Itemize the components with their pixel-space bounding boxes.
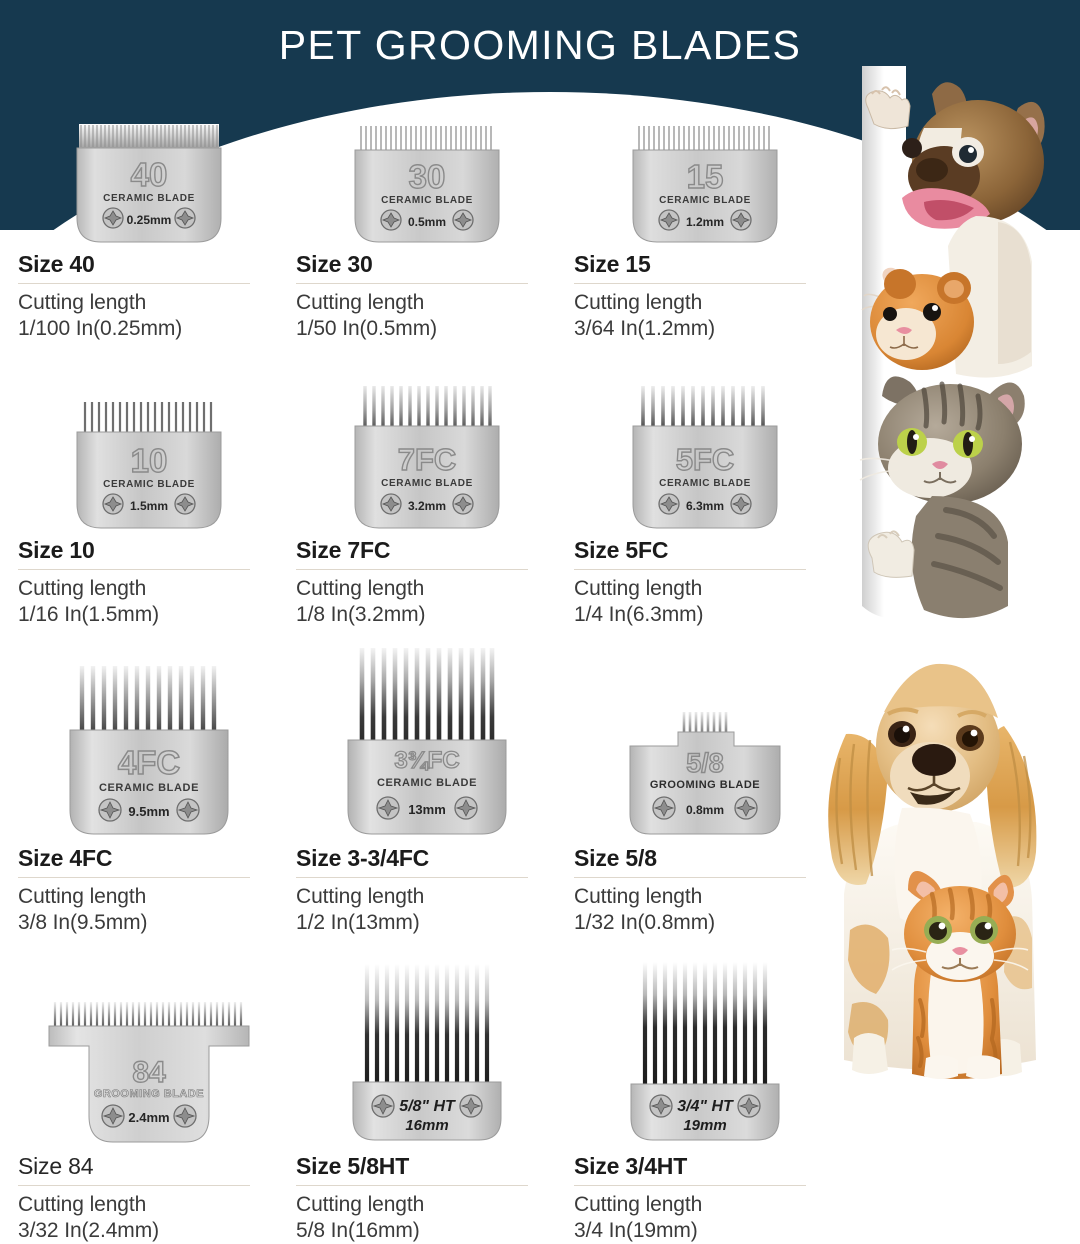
blade-card-84[interactable]: 84 GROOMING BLADE 2.4mm Size 84 Cutting … [2,936,280,1244]
svg-text:5/8" HT: 5/8" HT [399,1098,456,1115]
cutting-length-value: 3/4 In(19mm) [574,1218,836,1244]
blade-image-4fc: 4FC CERAMIC BLADE 9.5mm [18,628,280,840]
blade-image-7fc: 7FC CERAMIC BLADE 3.2mm [296,342,558,532]
blade-size-label: Size 5/8HT [296,1154,558,1179]
cutting-length-value: 1/50 In(0.5mm) [296,316,558,342]
cutting-length-label: Cutting length [296,884,558,910]
blade-card-15[interactable]: 15 CERAMIC BLADE 1.2mm Size 15 Cutting l… [558,118,836,342]
svg-text:CERAMIC BLADE: CERAMIC BLADE [103,193,195,204]
cutting-length-value: 3/32 In(2.4mm) [18,1218,280,1244]
cutting-length-label: Cutting length [574,576,836,602]
page-title: PET GROOMING BLADES [0,22,1080,69]
blade-size-label: Size 10 [18,538,280,563]
svg-text:CERAMIC BLADE: CERAMIC BLADE [103,479,195,490]
svg-text:13mm: 13mm [408,802,446,817]
svg-text:CERAMIC BLADE: CERAMIC BLADE [659,195,751,206]
divider [574,283,806,284]
blade-card-40[interactable]: 40 CERAMIC BLADE 0.25mm Size 40 Cutting … [2,118,280,342]
divider [574,1185,806,1186]
blade-card-30[interactable]: 30 CERAMIC BLADE 0.5mm Size 30 Cutting l… [280,118,558,342]
cutting-length-value: 1/2 In(13mm) [296,910,558,936]
svg-text:3/4" HT: 3/4" HT [677,1098,734,1115]
blade-row: 84 GROOMING BLADE 2.4mm Size 84 Cutting … [0,936,860,1244]
blade-size-label: Size 5FC [574,538,836,563]
svg-text:16mm: 16mm [405,1117,448,1134]
blade-card-7fc[interactable]: 7FC CERAMIC BLADE 3.2mm Size 7FC Cutting… [280,342,558,628]
cutting-length-label: Cutting length [296,576,558,602]
blade-info: Size 10 Cutting length 1/16 In(1.5mm) [18,532,280,628]
cutting-length-value: 1/100 In(0.25mm) [18,316,280,342]
svg-text:7FC: 7FC [398,442,457,477]
cutting-length-label: Cutting length [18,1192,280,1218]
svg-text:40: 40 [131,156,168,193]
blade-info: Size 4FC Cutting length 3/8 In(9.5mm) [18,840,280,936]
blade-row: 4FC CERAMIC BLADE 9.5mm Size 4FC Cutting… [0,628,860,936]
blade-row: 10 CERAMIC BLADE 1.5mm Size 10 Cutting l… [0,342,860,628]
blade-card-5fc[interactable]: 5FC CERAMIC BLADE 6.3mm Size 5FC Cutting… [558,342,836,628]
blade-image-10: 10 CERAMIC BLADE 1.5mm [18,342,280,532]
svg-text:CERAMIC BLADE: CERAMIC BLADE [381,195,473,206]
divider [18,1185,250,1186]
cutting-length-value: 3/8 In(9.5mm) [18,910,280,936]
blade-image-40: 40 CERAMIC BLADE 0.25mm [18,118,280,246]
blade-size-label: Size 4FC [18,846,280,871]
blade-size-label: Size 84 [18,1154,280,1179]
blade-card-4fc[interactable]: 4FC CERAMIC BLADE 9.5mm Size 4FC Cutting… [2,628,280,936]
divider [296,877,528,878]
svg-text:19mm: 19mm [683,1117,726,1134]
svg-text:0.5mm: 0.5mm [408,215,446,229]
divider [296,1185,528,1186]
svg-text:CERAMIC BLADE: CERAMIC BLADE [381,478,473,489]
blade-grid: 40 CERAMIC BLADE 0.25mm Size 40 Cutting … [0,118,860,1244]
blade-info: Size 84 Cutting length 3/32 In(2.4mm) [18,1148,280,1244]
blade-size-label: Size 3-3/4FC [296,846,558,871]
blade-size-label: Size 3/4HT [574,1154,836,1179]
svg-text:0.8mm: 0.8mm [686,803,724,817]
svg-text:10: 10 [131,442,168,479]
svg-text:30: 30 [409,158,446,195]
divider [574,877,806,878]
blade-size-label: Size 15 [574,252,836,277]
cutting-length-value: 3/64 In(1.2mm) [574,316,836,342]
svg-text:GROOMING BLADE: GROOMING BLADE [650,779,760,791]
blade-image-5fc: 5FC CERAMIC BLADE 6.3mm [574,342,836,532]
svg-text:CERAMIC BLADE: CERAMIC BLADE [99,782,199,794]
cutting-length-label: Cutting length [18,576,280,602]
cutting-length-value: 1/8 In(3.2mm) [296,602,558,628]
blade-info: Size 3-3/4FC Cutting length 1/2 In(13mm) [296,840,558,936]
svg-text:5FC: 5FC [676,442,735,477]
blade-image-15: 15 CERAMIC BLADE 1.2mm [574,118,836,246]
blade-size-label: Size 30 [296,252,558,277]
blade-info: Size 15 Cutting length 3/64 In(1.2mm) [574,246,836,342]
svg-text:1.2mm: 1.2mm [686,215,724,229]
svg-text:GROOMING BLADE: GROOMING BLADE [94,1088,204,1100]
svg-text:3¾FC: 3¾FC [394,747,459,774]
blade-info: Size 3/4HT Cutting length 3/4 In(19mm) [574,1148,836,1244]
blade-size-label: Size 40 [18,252,280,277]
cutting-length-label: Cutting length [296,290,558,316]
blade-card-10[interactable]: 10 CERAMIC BLADE 1.5mm Size 10 Cutting l… [2,342,280,628]
divider [296,283,528,284]
pet-photo-bottom-group [792,608,1080,1080]
divider [574,569,806,570]
svg-text:15: 15 [687,158,724,195]
blade-info: Size 7FC Cutting length 1/8 In(3.2mm) [296,532,558,628]
svg-text:CERAMIC BLADE: CERAMIC BLADE [377,777,477,789]
cutting-length-label: Cutting length [18,290,280,316]
blade-size-label: Size 7FC [296,538,558,563]
blade-info: Size 5/8HT Cutting length 5/8 In(16mm) [296,1148,558,1244]
svg-text:0.25mm: 0.25mm [127,213,172,227]
svg-text:CERAMIC BLADE: CERAMIC BLADE [659,478,751,489]
cutting-length-value: 1/16 In(1.5mm) [18,602,280,628]
cutting-length-label: Cutting length [18,884,280,910]
cutting-length-label: Cutting length [296,1192,558,1218]
divider [18,283,250,284]
divider [18,877,250,878]
svg-text:9.5mm: 9.5mm [128,804,169,819]
svg-text:84: 84 [132,1056,166,1089]
blade-image-30: 30 CERAMIC BLADE 0.5mm [296,118,558,246]
cutting-length-label: Cutting length [574,1192,836,1218]
cutting-length-label: Cutting length [574,290,836,316]
blade-info: Size 40 Cutting length 1/100 In(0.25mm) [18,246,280,342]
blade-image-334fc: 3¾FC CERAMIC BLADE 13mm [296,628,558,840]
blade-row: 40 CERAMIC BLADE 0.25mm Size 40 Cutting … [0,118,860,342]
svg-text:4FC: 4FC [118,744,180,781]
svg-text:5/8: 5/8 [686,748,724,778]
blade-image-58ht: 5/8" HT 16mm [296,936,558,1148]
blade-info: Size 30 Cutting length 1/50 In(0.5mm) [296,246,558,342]
svg-text:6.3mm: 6.3mm [686,499,724,513]
blade-image-84: 84 GROOMING BLADE 2.4mm [18,936,280,1148]
blade-card-58ht[interactable]: 5/8" HT 16mm Size 5/8HT Cutting length 5… [280,936,558,1244]
svg-text:2.4mm: 2.4mm [128,1110,169,1125]
divider [296,569,528,570]
cutting-length-value: 5/8 In(16mm) [296,1218,558,1244]
blade-card-334fc[interactable]: 3¾FC CERAMIC BLADE 13mm Size 3-3/4FC Cut… [280,628,558,936]
svg-text:3.2mm: 3.2mm [408,499,446,513]
divider [18,569,250,570]
pet-photo-top-group [828,66,1080,626]
svg-text:1.5mm: 1.5mm [130,499,168,513]
